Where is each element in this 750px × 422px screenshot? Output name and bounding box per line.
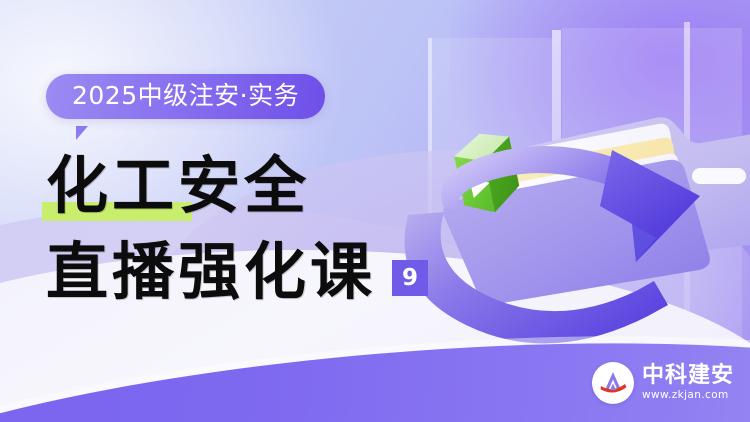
episode-number-badge: 9	[392, 260, 428, 296]
headline-block: 化工安全 直播强化课 9	[46, 150, 466, 308]
logo-website-url: www.zkjan.com	[642, 389, 734, 403]
logo-text-block: 中科建安 www.zkjan.com	[642, 364, 734, 403]
logo-company-name: 中科建安	[642, 364, 734, 387]
headline-line1: 化工安全	[46, 150, 466, 222]
badge-pill-tail	[76, 126, 92, 140]
headline-line2-row: 直播强化课 9	[46, 230, 466, 308]
brand-logo: 中科建安 www.zkjan.com	[592, 362, 734, 404]
zkjan-circle-logo-icon	[592, 362, 634, 404]
logo-mark-svg	[596, 366, 630, 400]
headline-line1-row: 化工安全	[46, 150, 466, 222]
headline-line2: 直播强化课	[46, 236, 376, 308]
course-banner: 2025中级注安·实务 化工安全 直播强化课 9 中科建安 www.zkjan.…	[0, 0, 750, 422]
course-category-badge: 2025中级注安·实务	[46, 74, 325, 119]
